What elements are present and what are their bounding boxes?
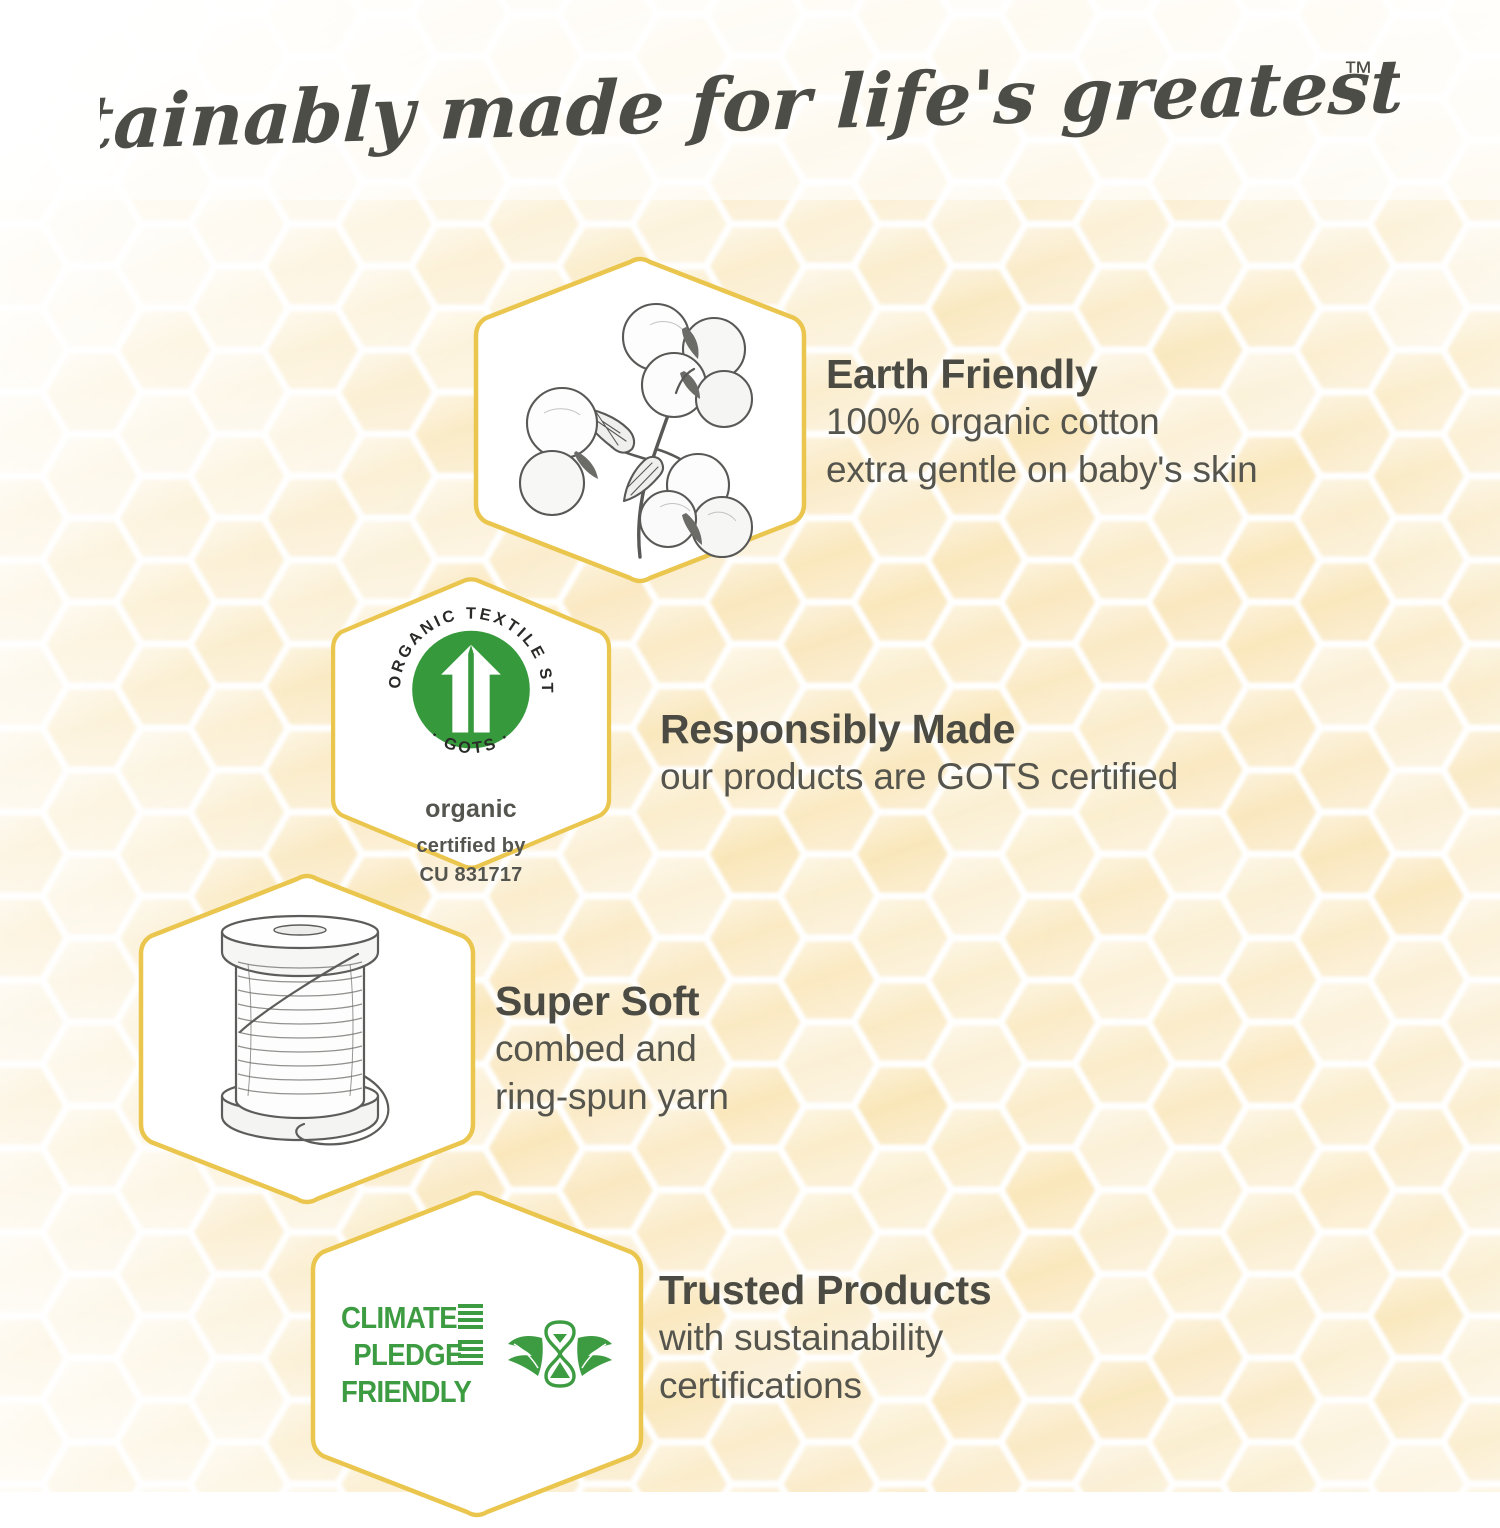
feature-text-super-soft: Super Soft combed and ring-spun yarn [495, 979, 729, 1121]
gots-organic-label: organic [425, 795, 517, 824]
feature-super-soft: Super Soft combed and ring-spun yarn [137, 863, 729, 1215]
gots-organic-certification-icon: GLOBAL ORGANIC TEXTILE STANDARD · GOTS · [375, 600, 567, 779]
cpf-line-2: PLEDGE [353, 1339, 463, 1372]
feature-subtitle-line-1: with sustainability [659, 1314, 991, 1362]
hexagon-frame-earth-friendly [472, 246, 808, 594]
cotton-branch-sketch-icon [500, 275, 780, 565]
headline-container: sustainably made for life's greatest joy… [0, 48, 1500, 163]
feature-earth-friendly: Earth Friendly 100% organic cotton extra… [472, 246, 1258, 594]
feature-text-earth-friendly: Earth Friendly 100% organic cotton extra… [826, 352, 1258, 494]
feature-text-trusted-products: Trusted Products with sustainability cer… [659, 1268, 991, 1410]
gots-certified-by-label: certified by [416, 833, 525, 859]
feature-subtitle-line-2: certifications [659, 1362, 991, 1410]
feature-title: Responsibly Made [660, 707, 1178, 753]
feature-text-responsibly-made: Responsibly Made our products are GOTS c… [660, 707, 1178, 801]
feature-subtitle-line-2: extra gentle on baby's skin [826, 446, 1258, 494]
hexagon-frame-responsibly-made: GLOBAL ORGANIC TEXTILE STANDARD · GOTS ·… [306, 576, 636, 888]
feature-title: Super Soft [495, 979, 729, 1025]
cpf-wordmark: CLIMATE PLEDGE FRIENDLY [340, 1300, 492, 1408]
cpf-line-1: CLIMATE [341, 1302, 457, 1335]
headline-main: sustainably made for life's greatest joy [100, 48, 1400, 163]
winged-hourglass-icon [506, 1312, 614, 1396]
climate-pledge-friendly-icon: CLIMATE PLEDGE FRIENDLY [340, 1300, 614, 1408]
trademark-symbol: ™ [1343, 56, 1373, 89]
feature-trusted-products: CLIMATE PLEDGE FRIENDLY [309, 1180, 991, 1528]
feature-subtitle-line-1: 100% organic cotton [826, 398, 1258, 446]
feature-title: Trusted Products [659, 1268, 991, 1314]
feature-subtitle-line-1: our products are GOTS certified [660, 753, 1178, 801]
gots-badge: GLOBAL ORGANIC TEXTILE STANDARD · GOTS ·… [306, 576, 636, 888]
headline-script-text: sustainably made for life's greatest joy… [100, 48, 1400, 163]
hexagon-frame-super-soft [137, 863, 477, 1215]
thread-spool-sketch-icon [182, 904, 432, 1174]
feature-subtitle-line-1: combed and [495, 1025, 729, 1073]
feature-responsibly-made: GLOBAL ORGANIC TEXTILE STANDARD · GOTS ·… [306, 576, 1178, 888]
hexagon-frame-trusted-products: CLIMATE PLEDGE FRIENDLY [309, 1180, 645, 1528]
feature-title: Earth Friendly [826, 352, 1258, 398]
feature-subtitle-line-2: ring-spun yarn [495, 1073, 729, 1121]
cpf-line-3: FRIENDLY [341, 1376, 472, 1408]
